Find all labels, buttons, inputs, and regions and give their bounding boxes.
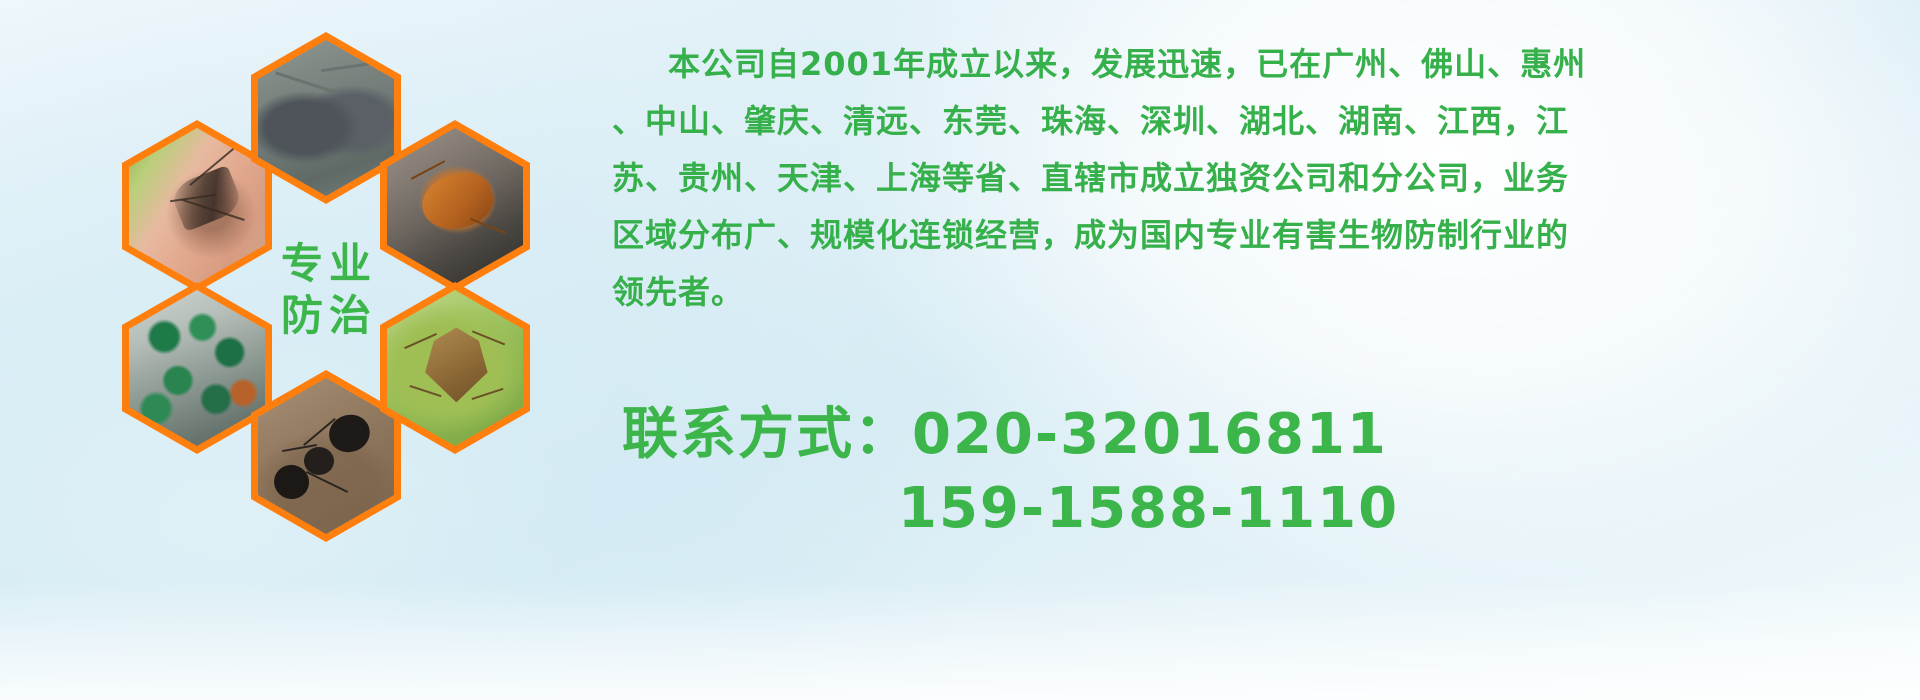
rat-image xyxy=(258,40,394,196)
description-line-5: 领先者。 xyxy=(612,264,1912,321)
contact-phone-primary[interactable]: 联系方式：020-32016811 xyxy=(622,398,1912,472)
promo-banner: 专业 防治 本公司自2001年成立以来，发展迅速，已在广州、佛山、惠州 、中山、… xyxy=(0,0,1920,700)
stink-bug-photo xyxy=(380,282,530,454)
logo-text-line2: 防治 xyxy=(275,295,377,337)
company-description: 本公司自2001年成立以来，发展迅速，已在广州、佛山、惠州 、中山、肇庆、清远、… xyxy=(612,36,1912,321)
rat-photo xyxy=(251,32,401,204)
cockroach-photo xyxy=(380,120,530,292)
logo-text-line1: 专业 xyxy=(275,243,377,285)
flies-image xyxy=(129,290,265,446)
description-line-4: 区域分布广、规模化连锁经营，成为国内专业有害生物防制行业的 xyxy=(612,207,1912,264)
mosquito-photo xyxy=(122,120,272,292)
contact-block: 联系方式：020-32016811 159-1588-1110 xyxy=(622,398,1912,546)
description-line-3: 苏、贵州、天津、上海等省、直辖市成立独资公司和分公司，业务 xyxy=(612,150,1912,207)
ant-photo xyxy=(251,370,401,542)
description-line-2: 、中山、肇庆、清远、东莞、珠海、深圳、湖北、湖南、江西，江 xyxy=(612,93,1912,150)
cockroach-image xyxy=(387,128,523,284)
description-line-1: 本公司自2001年成立以来，发展迅速，已在广州、佛山、惠州 xyxy=(612,36,1912,93)
logo-text: 专业 防治 xyxy=(251,204,401,376)
ant-image xyxy=(258,378,394,534)
mosquito-image xyxy=(129,128,265,284)
hexagon-photo-cluster: 专业 防治 xyxy=(86,14,586,559)
stink-bug-image xyxy=(387,290,523,446)
flies-photo xyxy=(122,282,272,454)
contact-phone-secondary[interactable]: 159-1588-1110 xyxy=(622,472,1912,546)
